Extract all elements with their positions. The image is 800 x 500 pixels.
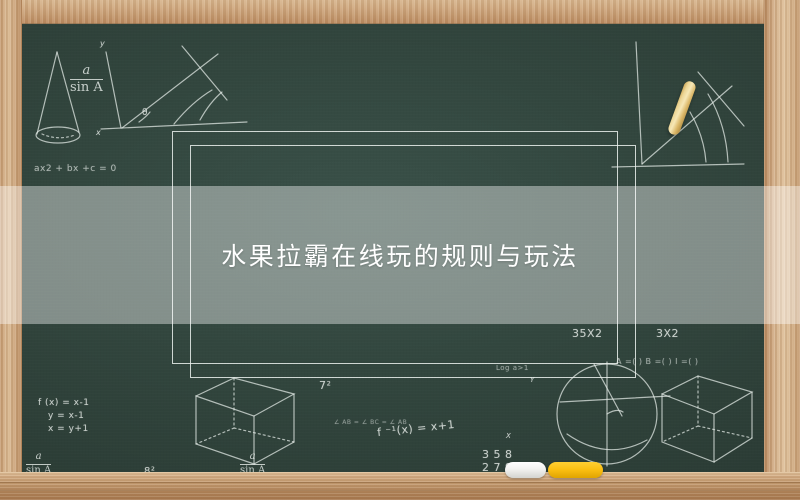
- function-line-3: x = y+1: [48, 424, 89, 434]
- cone-base-ellipse: [36, 127, 80, 143]
- fraction-denominator: sin A: [240, 466, 265, 473]
- angle-cross-line: [182, 46, 227, 100]
- power-eight-squared: 8²: [144, 466, 155, 472]
- page-title: 水果拉霸在线玩的规则与玩法: [221, 237, 579, 273]
- ledge-groove-line: [0, 482, 800, 483]
- chalk-stick-yellow-ledge: [548, 462, 603, 478]
- angle-theta-label: θ: [142, 108, 148, 118]
- multiply-3x2: 3X2: [656, 327, 679, 340]
- cube2-hidden-edge-2: [698, 426, 752, 438]
- cube2-hidden-edges: [662, 376, 698, 442]
- angle-hypotenuse: [122, 54, 218, 128]
- cube1-hidden-edges: [196, 378, 234, 444]
- axis-label-x-bottom: X: [506, 432, 511, 440]
- cross-line-right: [698, 72, 744, 126]
- frame-top-rail: [0, 0, 800, 24]
- cube1-top-face: [196, 378, 294, 416]
- fraction-numerator: a: [240, 452, 265, 463]
- arc-right-inner: [690, 112, 706, 162]
- chalk-stick-white-ledge: [505, 462, 546, 478]
- angle-arc-outer: [174, 90, 212, 124]
- power-seven-squared: 7²: [319, 379, 331, 392]
- fraction-a-over-sinA-mid: a sin A: [240, 452, 265, 472]
- axis-label-y: y: [100, 39, 105, 48]
- cone-base-dash: [42, 134, 75, 138]
- angle-sum: ∠ AB = ∠ BC = ∠ AB: [334, 419, 407, 426]
- fraction-numerator: a: [26, 452, 51, 463]
- fraction-a-over-sinA: a sin A: [70, 64, 103, 94]
- sphere-equator-line: [560, 396, 670, 402]
- ledge-groove-line-secondary: [0, 490, 800, 491]
- title-overlay-band: 水果拉霸在线玩的规则与玩法: [0, 186, 800, 324]
- cube2-top-face: [662, 376, 752, 414]
- cube2-front-face: [662, 394, 714, 462]
- fraction-numerator: a: [70, 64, 103, 78]
- function-line-2: y = x-1: [48, 411, 84, 421]
- fraction-a-over-sinA-left: a sin A: [26, 452, 51, 472]
- axis-label-x: x: [96, 128, 101, 137]
- fraction-denominator: sin A: [26, 466, 51, 473]
- cube1-hidden-edge-2: [234, 428, 294, 442]
- function-line-1: f (x) = x-1: [38, 398, 89, 408]
- axis-y-line: [106, 52, 121, 128]
- frame-bottom-ledge: [0, 472, 800, 500]
- chalkboard-banner: a sin A y x θ ax2 + bx +c = 0 35X2 3X2 L…: [0, 0, 800, 500]
- axis-y-right: [636, 42, 642, 164]
- column-digits-top: 3 5 8: [482, 448, 513, 461]
- fraction-denominator: sin A: [70, 81, 103, 95]
- cone-left-edge: [37, 52, 57, 134]
- quadratic-equation: ax2 + bx +c = 0: [34, 164, 117, 174]
